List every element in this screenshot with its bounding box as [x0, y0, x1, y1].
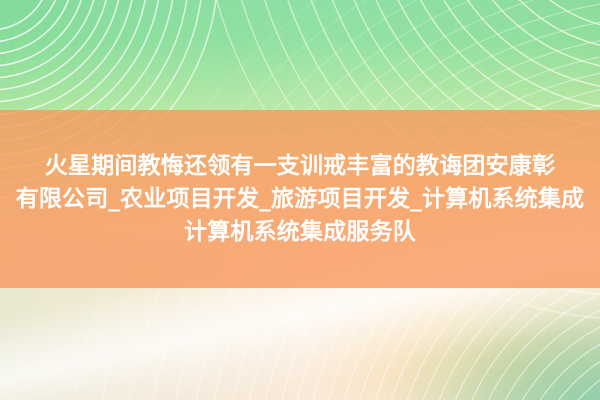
headline-line-2: 有限公司_农业项目开发_旅游项目开发_计算机系统集成	[16, 183, 585, 216]
headline-line-1: 火星期间教悔还领有一支训戒丰富的教诲团安康彰	[45, 150, 555, 183]
headline-line-3: 计算机系统集成服务队	[184, 216, 416, 249]
promo-banner: 火星期间教悔还领有一支训戒丰富的教诲团安康彰 有限公司_农业项目开发_旅游项目开…	[0, 0, 600, 400]
headline-text-block: 火星期间教悔还领有一支训戒丰富的教诲团安康彰 有限公司_农业项目开发_旅游项目开…	[0, 110, 600, 288]
